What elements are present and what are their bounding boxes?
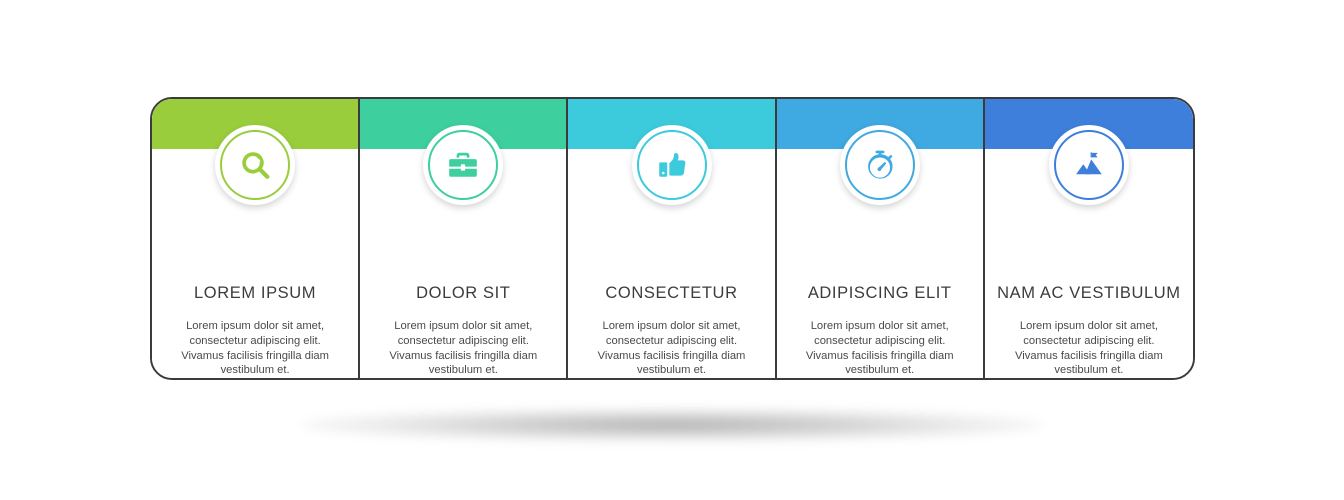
icon-ring-5 (1054, 130, 1124, 200)
mountain-flag-icon (1072, 148, 1106, 182)
icon-ring-2 (428, 130, 498, 200)
panel-title-2: DOLOR SIT (416, 284, 510, 303)
board-ground-shadow (300, 408, 1044, 442)
icon-badge-4[interactable] (840, 125, 920, 205)
panel-body-4: Lorem ipsum dolor sit amet, consectetur … (794, 319, 966, 378)
icon-ring-4 (845, 130, 915, 200)
five-step-board: LOREM IPSUM Lorem ipsum dolor sit amet, … (150, 97, 1195, 380)
panel-title-5: NAM AC VESTIBULUM (997, 284, 1180, 303)
panel-body-1: Lorem ipsum dolor sit amet, consectetur … (169, 319, 341, 378)
briefcase-icon (446, 148, 480, 182)
icon-badge-1[interactable] (215, 125, 295, 205)
icon-badge-3[interactable] (632, 125, 712, 205)
panel-step-2[interactable]: DOLOR SIT Lorem ipsum dolor sit amet, co… (360, 99, 568, 378)
panel-step-4[interactable]: ADIPISCING ELIT Lorem ipsum dolor sit am… (777, 99, 985, 378)
panel-body-5: Lorem ipsum dolor sit amet, consectetur … (1003, 319, 1175, 378)
icon-badge-2[interactable] (423, 125, 503, 205)
magnifier-icon (238, 148, 272, 182)
panel-title-3: CONSECTETUR (605, 284, 737, 303)
infographic-stage: LOREM IPSUM Lorem ipsum dolor sit amet, … (0, 0, 1344, 500)
panel-step-1[interactable]: LOREM IPSUM Lorem ipsum dolor sit amet, … (152, 99, 360, 378)
panel-title-4: ADIPISCING ELIT (808, 284, 952, 303)
panel-step-5[interactable]: NAM AC VESTIBULUM Lorem ipsum dolor sit … (985, 99, 1193, 378)
stopwatch-icon (863, 148, 897, 182)
icon-badge-5[interactable] (1049, 125, 1129, 205)
panel-body-2: Lorem ipsum dolor sit amet, consectetur … (377, 319, 549, 378)
panel-body-3: Lorem ipsum dolor sit amet, consectetur … (586, 319, 758, 378)
panel-step-3[interactable]: CONSECTETUR Lorem ipsum dolor sit amet, … (568, 99, 776, 378)
icon-ring-3 (637, 130, 707, 200)
thumbs-up-icon (655, 148, 689, 182)
panel-title-1: LOREM IPSUM (194, 284, 316, 303)
icon-ring-1 (220, 130, 290, 200)
